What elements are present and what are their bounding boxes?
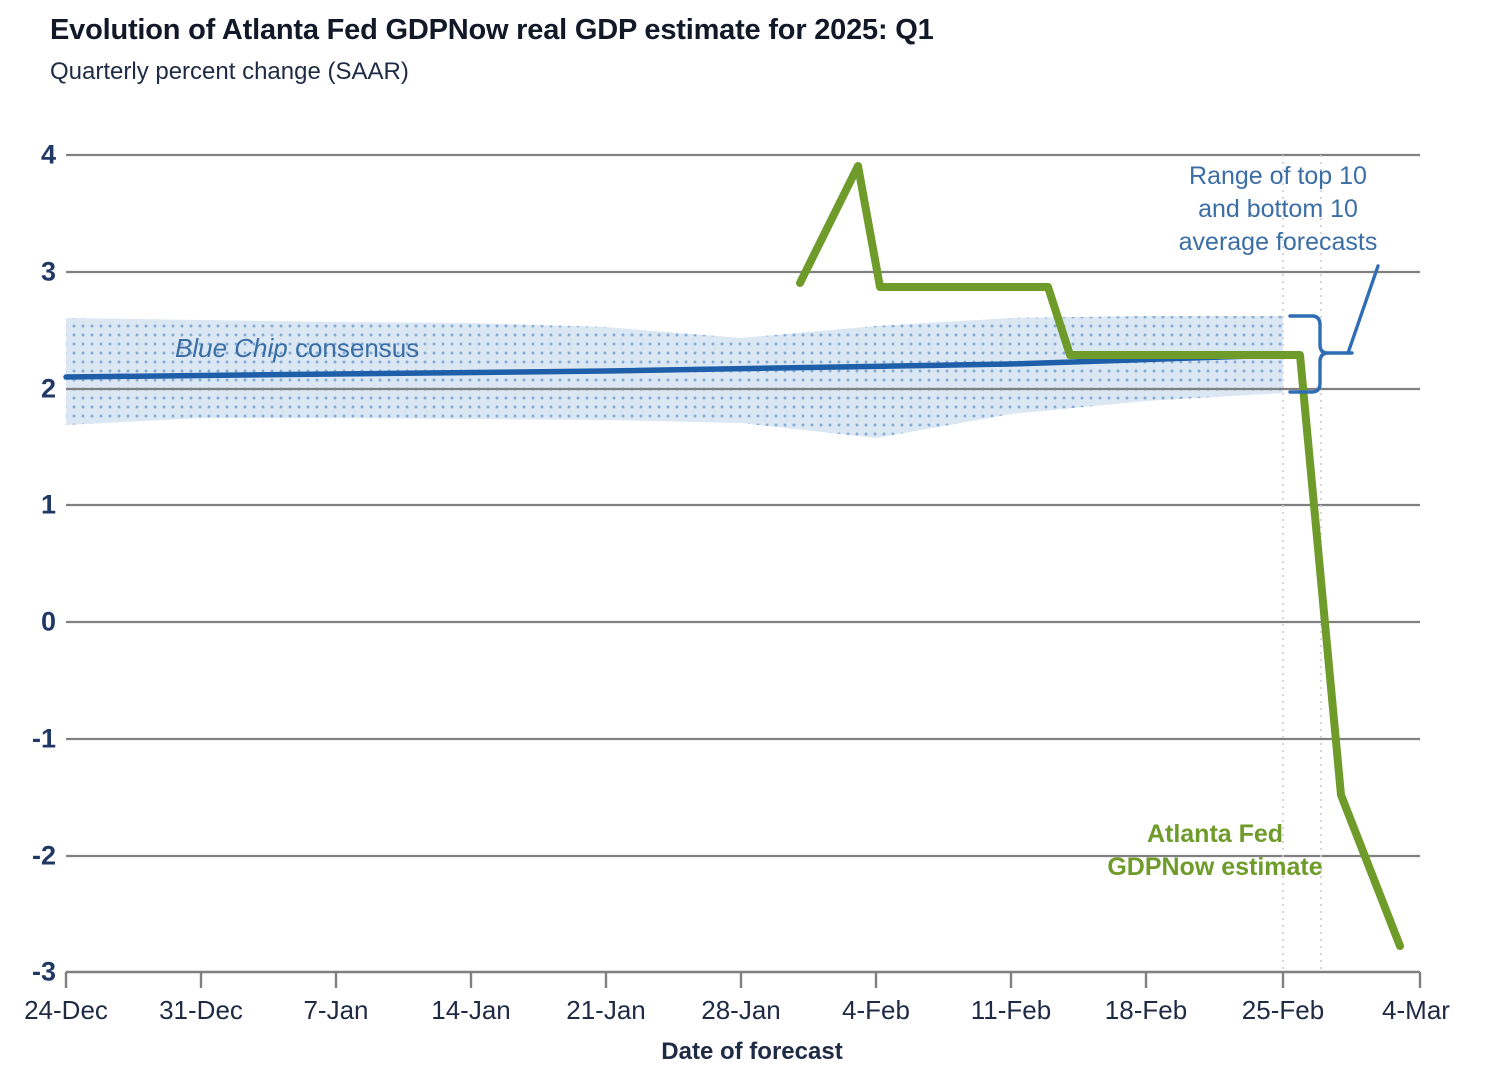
range-annotation: Range of top 10 and bottom 10 average fo…	[1148, 160, 1408, 259]
bluechip-annotation: Blue Chip consensus	[175, 333, 419, 364]
range-annotation-line2: and bottom 10	[1148, 193, 1408, 226]
chart-container: Evolution of Atlanta Fed GDPNow real GDP…	[0, 0, 1504, 1082]
y-tick-0: 0	[10, 607, 56, 638]
x-axis-title: Date of forecast	[0, 1038, 1504, 1066]
y-tick-1: 1	[10, 490, 56, 521]
gdpnow-annotation: Atlanta Fed GDPNow estimate	[1070, 818, 1360, 884]
range-annotation-line3: average forecasts	[1148, 226, 1408, 259]
gdpnow-annotation-line2: GDPNow estimate	[1070, 851, 1360, 884]
bluechip-annotation-emphasis: Blue Chip	[175, 333, 288, 363]
x-tick-25-feb: 25-Feb	[1242, 995, 1324, 1026]
x-tick-24-dec: 24-Dec	[24, 995, 108, 1026]
x-tick-11-feb: 11-Feb	[971, 995, 1051, 1026]
bluechip-annotation-rest: consensus	[288, 333, 420, 363]
x-tick-14-jan: 14-Jan	[431, 995, 511, 1026]
x-tick-21-jan: 21-Jan	[566, 995, 646, 1026]
y-tick-neg1: -1	[10, 724, 56, 755]
y-tick-neg2: -2	[10, 841, 56, 872]
x-axis	[66, 972, 1420, 988]
gridlines	[66, 155, 1420, 856]
x-tick-4-mar: 4-Mar	[1382, 995, 1450, 1026]
x-tick-4-feb: 4-Feb	[842, 995, 910, 1026]
range-leader-line	[1348, 266, 1378, 353]
x-tick-7-jan: 7-Jan	[303, 995, 368, 1026]
y-tick-2: 2	[10, 374, 56, 405]
x-tick-18-feb: 18-Feb	[1105, 995, 1187, 1026]
range-annotation-line1: Range of top 10	[1148, 160, 1408, 193]
y-tick-4: 4	[10, 140, 56, 171]
gdpnow-annotation-line1: Atlanta Fed	[1070, 818, 1360, 851]
y-tick-neg3: -3	[10, 957, 56, 988]
x-tick-28-jan: 28-Jan	[701, 995, 781, 1026]
x-tick-31-dec: 31-Dec	[159, 995, 243, 1026]
y-tick-3: 3	[10, 257, 56, 288]
